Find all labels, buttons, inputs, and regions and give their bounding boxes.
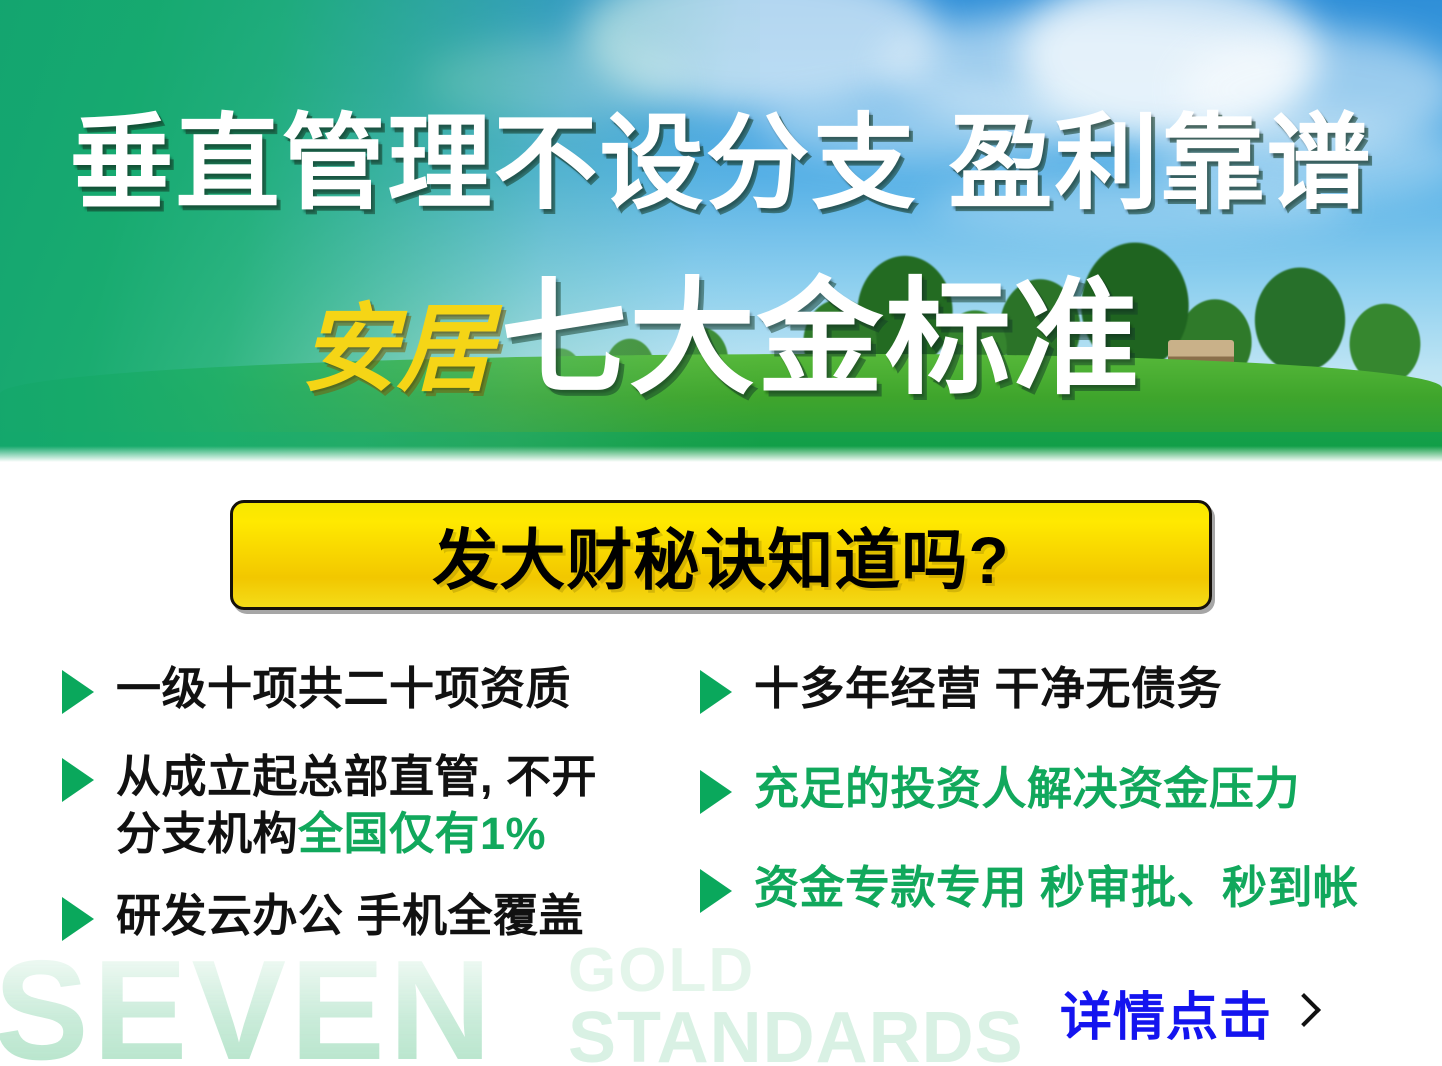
feature-text: 研发云办公 手机全覆盖 xyxy=(116,887,584,945)
feature-line-1: 充足的投资人解决资金压力 xyxy=(754,763,1300,814)
triangle-bullet-icon xyxy=(700,770,732,814)
list-item: 充足的投资人解决资金压力 xyxy=(700,760,1400,818)
feature-line-1: 一级十项共二十项资质 xyxy=(116,663,571,714)
feature-line-1: 从成立起总部直管, 不开 xyxy=(116,751,597,802)
feature-text: 十多年经营 干净无债务 xyxy=(754,660,1222,718)
hero-brand-text: 安居 xyxy=(301,296,493,403)
hero-headline-top: 垂直管理不设分支 盈利靠谱 xyxy=(0,112,1442,216)
triangle-bullet-icon xyxy=(700,869,732,913)
feature-line-2-highlight: 全国仅有1% xyxy=(298,808,546,859)
feature-line-1: 十多年经营 干净无债务 xyxy=(754,663,1222,714)
triangle-bullet-icon xyxy=(700,670,732,714)
details-link-label: 详情点击 xyxy=(1060,975,1272,1050)
feature-text: 从成立起总部直管, 不开 分支机构全国仅有1% xyxy=(116,748,597,863)
headline-cta-bar-label: 发大财秘诀知道吗? xyxy=(432,507,1009,603)
list-item: 资金专款专用 秒审批、秒到帐 xyxy=(700,859,1400,917)
feature-column-left: 一级十项共二十项资质 从成立起总部直管, 不开 分支机构全国仅有1% 研发云办公… xyxy=(62,660,682,970)
details-link[interactable]: 详情点击 xyxy=(1060,975,1312,1050)
hero-banner: 垂直管理不设分支 盈利靠谱 安居七大金标准 xyxy=(0,0,1442,462)
feature-text: 充足的投资人解决资金压力 xyxy=(754,760,1300,818)
feature-text: 资金专款专用 秒审批、秒到帐 xyxy=(754,859,1359,917)
feature-line-1: 资金专款专用 秒审批、秒到帐 xyxy=(754,862,1359,913)
triangle-bullet-icon xyxy=(62,758,94,802)
hero-text-group: 垂直管理不设分支 盈利靠谱 安居七大金标准 xyxy=(0,0,1442,462)
chevron-right-icon xyxy=(1290,992,1312,1034)
feature-line-2: 分支机构 xyxy=(116,808,298,859)
feature-list: 一级十项共二十项资质 从成立起总部直管, 不开 分支机构全国仅有1% 研发云办公… xyxy=(0,660,1442,980)
feature-line-1: 研发云办公 手机全覆盖 xyxy=(116,890,584,941)
triangle-bullet-icon xyxy=(62,670,94,714)
feature-column-right: 十多年经营 干净无债务 充足的投资人解决资金压力 资金专款专用 秒审批、秒到帐 xyxy=(700,660,1400,959)
headline-cta-bar[interactable]: 发大财秘诀知道吗? xyxy=(230,500,1212,610)
hero-headline-main-row: 安居七大金标准 xyxy=(0,276,1442,402)
triangle-bullet-icon xyxy=(62,897,94,941)
hero-headline-main: 七大金标准 xyxy=(501,268,1141,409)
watermark-standards: STANDARDS xyxy=(568,1002,1024,1066)
list-item: 从成立起总部直管, 不开 分支机构全国仅有1% xyxy=(62,748,682,863)
list-item: 研发云办公 手机全覆盖 xyxy=(62,887,682,945)
list-item: 十多年经营 干净无债务 xyxy=(700,660,1400,718)
feature-text: 一级十项共二十项资质 xyxy=(116,660,571,718)
list-item: 一级十项共二十项资质 xyxy=(62,660,682,718)
promo-banner-page: 垂直管理不设分支 盈利靠谱 安居七大金标准 发大财秘诀知道吗? 一级十项共二十项… xyxy=(0,0,1442,1066)
